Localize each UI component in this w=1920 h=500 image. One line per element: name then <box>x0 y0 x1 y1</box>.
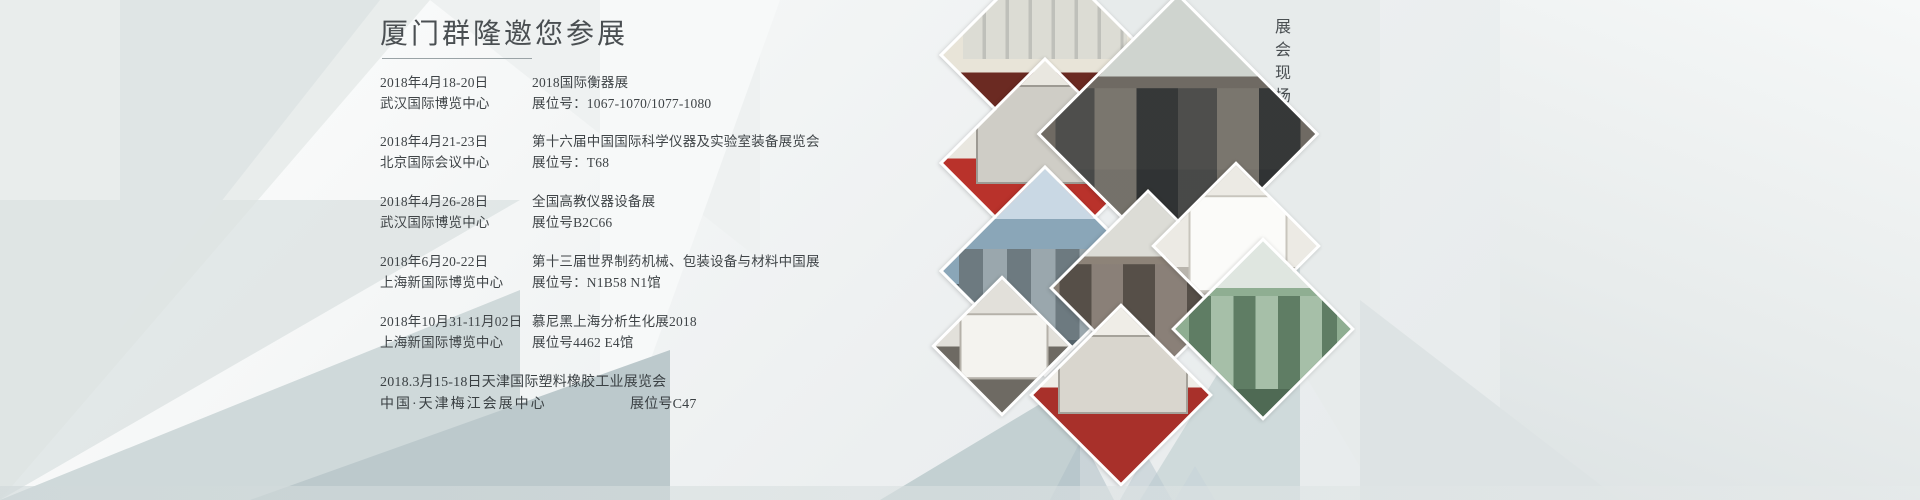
event-date: 2018.3月15-18日天津国际塑料橡胶工业展览会 <box>380 372 666 394</box>
event-venue-row: 中国·天津梅江会展中心 展位号C47 <box>380 394 1060 416</box>
event-title-row: 2018年4月26-28日 全国高教仪器设备展 <box>380 192 1060 213</box>
decor-facet-2 <box>120 0 380 330</box>
photo-collage: 密度计&水分仪中国制造 厦门群隆仪器有限公司 <box>1030 0 1450 500</box>
list-item: 2018年4月18-20日 2018国际衡器展 武汉国际博览中心 展位号：106… <box>380 73 1060 115</box>
event-name: 第十六届中国国际科学仪器及实验室装备展览会 <box>532 132 820 153</box>
photo-subbanner-text: 厦门群隆仪器有限公司 <box>967 0 1123 3</box>
title-divider <box>382 58 532 59</box>
event-venue: 武汉国际博览中心 <box>380 213 532 234</box>
event-venue: 武汉国际博览中心 <box>380 94 532 115</box>
event-booth: 展位号：N1B58 N1馆 <box>532 273 661 294</box>
event-venue-row: 武汉国际博览中心 展位号B2C66 <box>380 213 1060 234</box>
event-venue: 上海新国际博览中心 <box>380 333 532 354</box>
decor-facet-1 <box>0 0 430 500</box>
event-name: 第十三届世界制药机械、包装设备与材料中国展 <box>532 252 820 273</box>
list-item: 2018.3月15-18日天津国际塑料橡胶工业展览会 中国·天津梅江会展中心 展… <box>380 372 1060 415</box>
event-booth: 展位号：T68 <box>532 153 609 174</box>
event-date: 2018年4月26-28日 <box>380 192 532 213</box>
event-venue-row: 武汉国际博览中心 展位号：1067-1070/1077-1080 <box>380 94 1060 115</box>
event-date: 2018年10月31-11月02日 <box>380 312 532 333</box>
event-name: 慕尼黑上海分析生化展2018 <box>532 312 697 333</box>
event-booth: 展位号：1067-1070/1077-1080 <box>532 94 711 115</box>
event-booth: 展位号C47 <box>630 394 697 416</box>
exhibition-invitation-banner: 厦门群隆邀您参展 2018年4月18-20日 2018国际衡器展 武汉国际博览中… <box>0 0 1920 500</box>
list-item: 2018年4月26-28日 全国高教仪器设备展 武汉国际博览中心 展位号B2C6… <box>380 192 1060 234</box>
bottom-accent-bar <box>0 486 1920 500</box>
event-date: 2018年6月20-22日 <box>380 252 532 273</box>
event-booth: 展位号4462 E4馆 <box>532 333 634 354</box>
event-venue: 中国·天津梅江会展中心 <box>380 394 630 416</box>
event-name: 2018国际衡器展 <box>532 73 628 94</box>
event-booth: 展位号B2C66 <box>532 213 612 234</box>
event-date: 2018年4月18-20日 <box>380 73 532 94</box>
event-date: 2018年4月21-23日 <box>380 132 532 153</box>
decor-facet-8 <box>1500 0 1920 500</box>
event-venue: 上海新国际博览中心 <box>380 273 532 294</box>
event-venue: 北京国际会议中心 <box>380 153 532 174</box>
event-title-row: 2018.3月15-18日天津国际塑料橡胶工业展览会 <box>380 372 1060 394</box>
event-title-row: 2018年4月18-20日 2018国际衡器展 <box>380 73 1060 94</box>
event-name: 全国高教仪器设备展 <box>532 192 655 213</box>
